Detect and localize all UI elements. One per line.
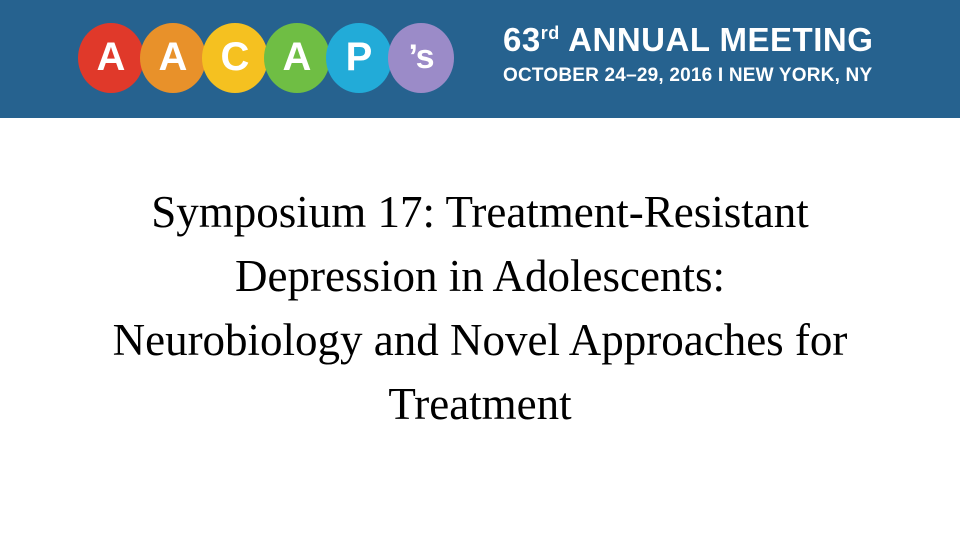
page-title-line-4: Treatment — [30, 372, 930, 436]
logo-bubble-a3: A — [264, 23, 330, 93]
logo-bubble-letter: P — [346, 37, 373, 77]
meeting-title-line: 63rd ANNUAL MEETING — [503, 22, 873, 58]
title-slide: A A C A P ’s 63rd ANNUAL MEETING OCTOBER… — [0, 0, 960, 540]
logo-bubble-letter: ’s — [408, 40, 433, 74]
logo-bubble-a1: A — [78, 23, 144, 93]
aacap-logo: A A C A P ’s — [78, 22, 450, 94]
logo-bubble-a2: A — [140, 23, 206, 93]
meeting-ordinal-suffix: rd — [541, 23, 560, 43]
page-title-line-3: Neurobiology and Novel Approaches for — [30, 308, 930, 372]
page-title: Symposium 17: Treatment-Resistant Depres… — [30, 180, 930, 436]
logo-bubble-p: P — [326, 23, 392, 93]
slide-body: Symposium 17: Treatment-Resistant Depres… — [0, 118, 960, 540]
logo-bubble-letter: A — [283, 37, 312, 77]
meeting-number: 63 — [503, 21, 541, 58]
page-title-line-1: Symposium 17: Treatment-Resistant — [30, 180, 930, 244]
logo-bubble-letter: A — [159, 37, 188, 77]
logo-bubble-letter: A — [97, 37, 126, 77]
meeting-info: 63rd ANNUAL MEETING OCTOBER 24–29, 2016 … — [503, 22, 873, 89]
logo-bubble-letter: C — [221, 37, 250, 77]
page-title-line-2: Depression in Adolescents: — [30, 244, 930, 308]
logo-bubble-c: C — [202, 23, 268, 93]
meeting-dates-location: OCTOBER 24–29, 2016 I NEW YORK, NY — [503, 63, 873, 89]
meeting-title-text: ANNUAL MEETING — [560, 21, 874, 58]
logo-bubble-apostrophe-s: ’s — [388, 23, 454, 93]
conference-banner: A A C A P ’s 63rd ANNUAL MEETING OCTOBER… — [0, 0, 960, 118]
